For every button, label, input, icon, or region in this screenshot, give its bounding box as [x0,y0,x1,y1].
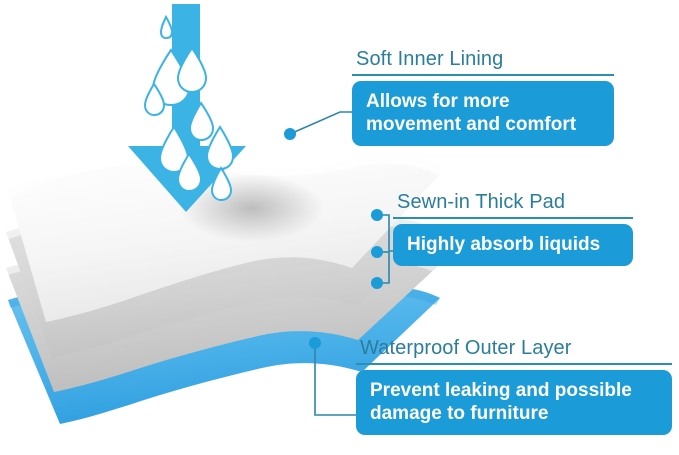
callout-body-line: movement and comfort [366,113,600,136]
callout-rule-sewn-in-thick-pad [393,217,633,219]
callout-box-soft-inner-lining: Allows for more movement and comfort [352,81,614,146]
callout-soft-inner-lining: Soft Inner Lining Allows for more moveme… [352,47,614,146]
callout-sewn-in-thick-pad: Sewn-in Thick Pad Highly absorb liquids [393,190,633,266]
callout-heading-waterproof-outer-layer: Waterproof Outer Layer [356,336,672,360]
callout-box-waterproof-outer-layer: Prevent leaking and possible damage to f… [356,370,672,435]
callout-body-line: Allows for more [366,90,600,113]
callout-heading-sewn-in-thick-pad: Sewn-in Thick Pad [393,190,633,214]
callout-body-line: damage to furniture [370,402,658,425]
callout-body-line: Highly absorb liquids [407,233,619,256]
callout-rule-soft-inner-lining [352,74,614,76]
callout-body-line: Prevent leaking and possible [370,379,658,402]
callout-rule-waterproof-outer-layer [356,363,672,365]
callout-heading-soft-inner-lining: Soft Inner Lining [352,47,614,71]
callout-box-sewn-in-thick-pad: Highly absorb liquids [393,224,633,266]
callout-waterproof-outer-layer: Waterproof Outer Layer Prevent leaking a… [356,336,672,435]
infographic-canvas: Soft Inner Lining Allows for more moveme… [0,0,679,455]
